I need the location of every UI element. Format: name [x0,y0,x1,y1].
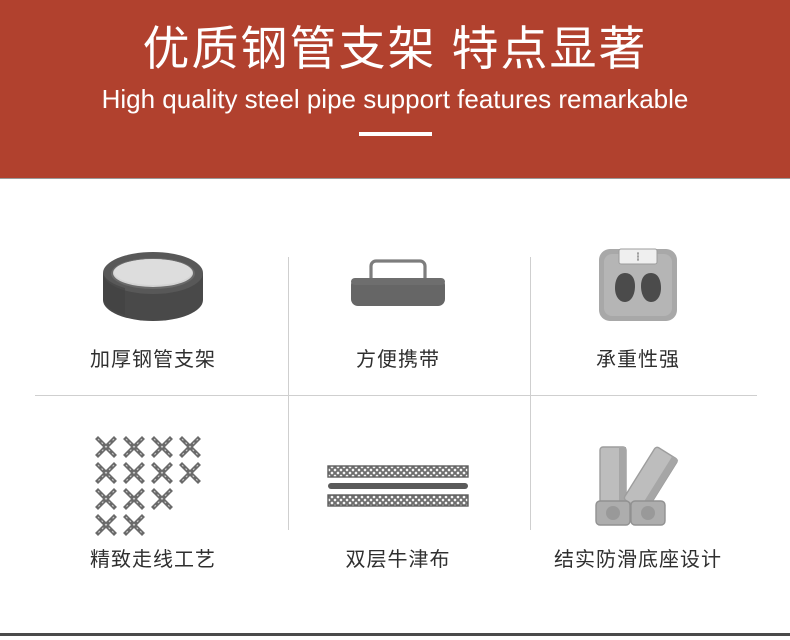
feature-label: 方便携带 [356,347,440,373]
carry-bag-handle-icon [298,227,498,347]
feature-cell-steel-pipe: 加厚钢管支架 [30,227,276,427]
feature-cell-anti-slip-base: 结实防滑底座设计 [515,427,761,627]
banner-title-chinese: 优质钢管支架 特点显著 [142,21,647,77]
feature-cell-oxford-fabric: 双层牛津布 [275,427,521,627]
anti-slip-base-legs-icon [538,427,738,547]
feature-label: 承重性强 [596,347,680,373]
feature-label: 精致走线工艺 [90,547,216,573]
feature-label: 结实防滑底座设计 [554,547,722,573]
promo-banner-page: 优质钢管支架 特点显著 High quality steel pipe supp… [0,0,790,640]
feature-label: 双层牛津布 [346,547,451,573]
feature-cell-load-bearing: 承重性强 [515,227,761,427]
double-layer-oxford-fabric-icon [298,427,498,547]
banner-underline-rule [359,132,432,136]
banner-subtitle-english: High quality steel pipe support features… [102,83,689,115]
feature-cell-portable: 方便携带 [275,227,521,427]
weighing-scale-footprints-icon [538,227,738,347]
page-bottom-edge [0,633,790,636]
steel-pipe-cylinder-icon [53,227,253,347]
feature-grid: 加厚钢管支架 方便携带 [0,179,790,633]
header-banner: 优质钢管支架 特点显著 High quality steel pipe supp… [0,0,790,178]
feature-cell-stitching: 精致走线工艺 [30,427,276,627]
cross-stitch-pattern-icon [53,427,253,547]
feature-label: 加厚钢管支架 [90,347,216,373]
